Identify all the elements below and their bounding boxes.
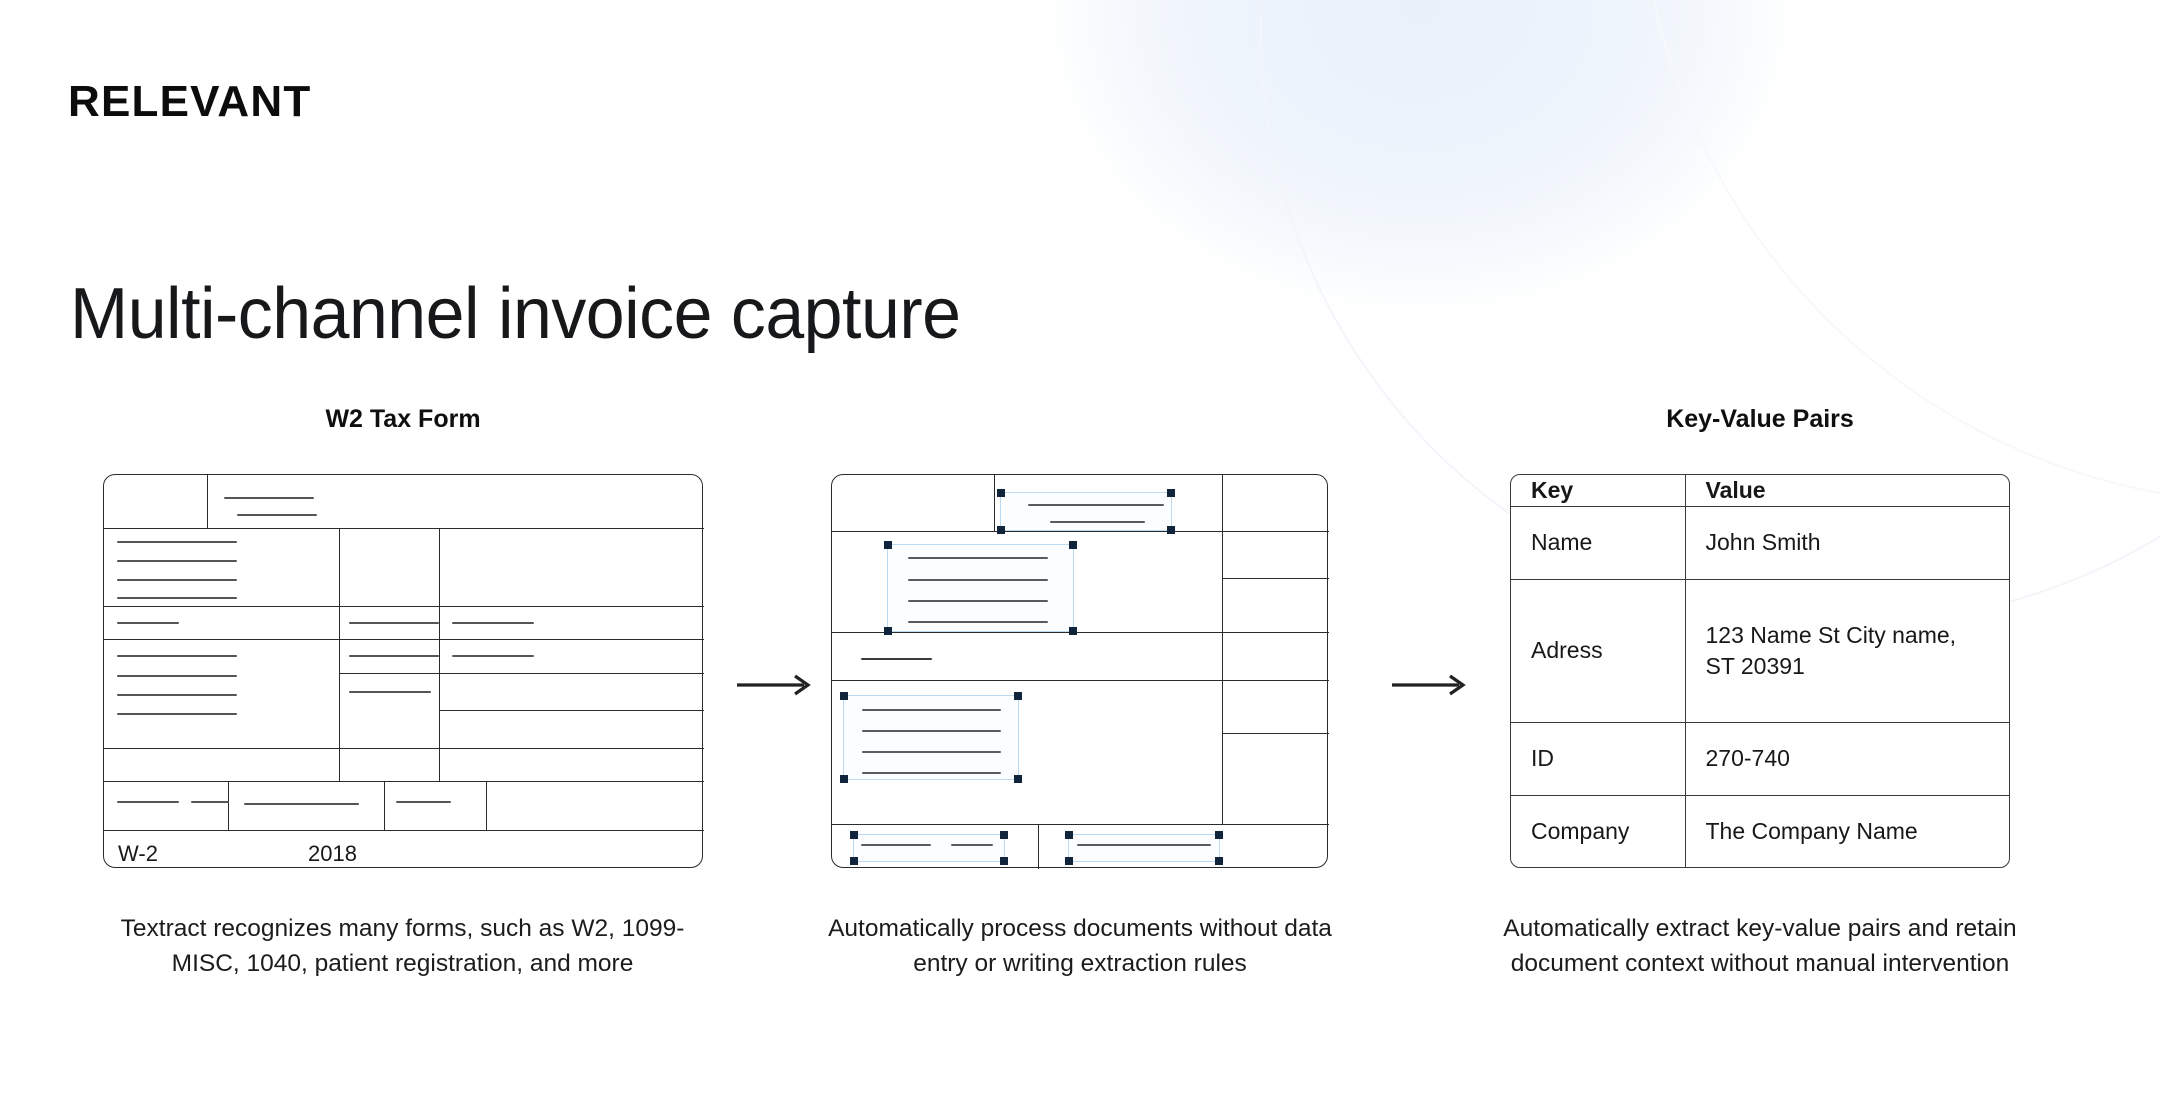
cell-value: 270-740 bbox=[1685, 723, 2009, 796]
form-text-line bbox=[224, 497, 314, 499]
form-text-line bbox=[117, 655, 237, 657]
form-text-line bbox=[117, 560, 237, 562]
form-text-line bbox=[396, 801, 451, 803]
selection-handle-bottom-right[interactable] bbox=[1167, 526, 1175, 534]
selection-handle-top-right[interactable] bbox=[1167, 489, 1175, 497]
selection-handle-top-left[interactable] bbox=[1065, 831, 1073, 839]
brand-logo: RELEVANT bbox=[68, 80, 311, 124]
cell-key: Company bbox=[1511, 795, 1685, 867]
form-rule bbox=[339, 528, 340, 781]
form-rule bbox=[1222, 578, 1329, 579]
form-text-line bbox=[861, 658, 932, 660]
selection-handle-top-right[interactable] bbox=[1014, 692, 1022, 700]
form-rule bbox=[439, 528, 440, 781]
cell-value: The Company Name bbox=[1685, 795, 2009, 867]
selection-handle-bottom-left[interactable] bbox=[1065, 857, 1073, 865]
form-rule bbox=[1038, 824, 1039, 869]
selection-handle-bottom-right[interactable] bbox=[1215, 857, 1223, 865]
form-text-line bbox=[237, 514, 317, 516]
form-text-line bbox=[117, 675, 237, 677]
form-rule bbox=[832, 632, 1329, 633]
column-header-key: Key bbox=[1511, 475, 1685, 507]
selection-handle-bottom-left[interactable] bbox=[997, 526, 1005, 534]
form-text-line bbox=[452, 622, 534, 624]
selection-handle-bottom-left[interactable] bbox=[850, 857, 858, 865]
panel-caption-key-value-pairs: Automatically extract key-value pairs an… bbox=[1470, 912, 2050, 982]
form-text-line bbox=[117, 622, 179, 624]
form-text-line bbox=[191, 801, 229, 803]
arrow-right-icon bbox=[735, 672, 815, 703]
processed-document-sheet bbox=[831, 474, 1328, 868]
form-rule bbox=[104, 781, 704, 782]
extraction-selection-box[interactable] bbox=[853, 834, 1005, 862]
form-rule bbox=[994, 475, 995, 531]
panel-caption-w2-tax-form: Textract recognizes many forms, such as … bbox=[95, 912, 710, 982]
form-text-line bbox=[452, 655, 534, 657]
selection-handle-bottom-right[interactable] bbox=[1069, 627, 1077, 635]
table-row: Name John Smith bbox=[1511, 507, 2009, 580]
selection-handle-top-left[interactable] bbox=[850, 831, 858, 839]
selection-handle-bottom-left[interactable] bbox=[840, 775, 848, 783]
form-rule bbox=[439, 710, 704, 711]
extraction-selection-box[interactable] bbox=[887, 544, 1074, 632]
form-text-line bbox=[117, 801, 179, 803]
extraction-selection-box[interactable] bbox=[843, 695, 1019, 780]
form-rule bbox=[1222, 475, 1223, 824]
extraction-selection-box[interactable] bbox=[1068, 834, 1220, 862]
form-rule bbox=[104, 606, 704, 607]
form-rule bbox=[339, 673, 704, 674]
selection-handle-top-right[interactable] bbox=[1000, 831, 1008, 839]
selection-handle-top-left[interactable] bbox=[997, 489, 1005, 497]
arrow-right-icon bbox=[1390, 672, 1470, 703]
w2-form-code-label: W-2 bbox=[118, 841, 158, 867]
extraction-selection-box[interactable] bbox=[1000, 492, 1172, 531]
selection-handle-top-right[interactable] bbox=[1215, 831, 1223, 839]
form-text-line bbox=[117, 579, 237, 581]
panel-title-key-value-pairs: Key-Value Pairs bbox=[1510, 405, 2010, 434]
table-row: ID 270-740 bbox=[1511, 723, 2009, 796]
form-text-line bbox=[117, 713, 237, 715]
form-rule bbox=[228, 781, 229, 830]
form-rule bbox=[104, 639, 704, 640]
cell-value: 123 Name St City name, ST 20391 bbox=[1685, 579, 2009, 722]
table-row: Company The Company Name bbox=[1511, 795, 2009, 867]
selection-handle-top-left[interactable] bbox=[840, 692, 848, 700]
cell-value: John Smith bbox=[1685, 507, 2009, 580]
form-text-line bbox=[117, 541, 237, 543]
form-text-line bbox=[349, 622, 439, 624]
panel-title-w2-tax-form: W2 Tax Form bbox=[103, 405, 703, 434]
form-text-line bbox=[117, 597, 237, 599]
page-title: Multi-channel invoice capture bbox=[70, 276, 960, 354]
w2-form-sheet: W-2 2018 bbox=[103, 474, 703, 868]
panel-caption-processed-document: Automatically process documents without … bbox=[800, 912, 1360, 982]
form-rule bbox=[1222, 733, 1329, 734]
form-rule bbox=[104, 528, 704, 529]
cell-key: Adress bbox=[1511, 579, 1685, 722]
w2-form-year-label: 2018 bbox=[308, 841, 357, 867]
background-blob bbox=[1040, 0, 1800, 320]
cell-key: ID bbox=[1511, 723, 1685, 796]
form-text-line bbox=[244, 803, 359, 805]
form-text-line bbox=[117, 694, 237, 696]
form-rule bbox=[486, 781, 487, 830]
selection-handle-bottom-right[interactable] bbox=[1014, 775, 1022, 783]
column-header-value: Value bbox=[1685, 475, 2009, 507]
form-rule bbox=[207, 475, 208, 528]
table-row: Adress 123 Name St City name, ST 20391 bbox=[1511, 579, 2009, 722]
selection-handle-top-left[interactable] bbox=[884, 541, 892, 549]
form-text-line bbox=[349, 655, 439, 657]
form-rule bbox=[832, 824, 1329, 825]
selection-handle-bottom-right[interactable] bbox=[1000, 857, 1008, 865]
form-rule bbox=[832, 680, 1329, 681]
table-header-row: Key Value bbox=[1511, 475, 2009, 507]
key-value-table: Key Value Name John Smith Adress 123 Nam… bbox=[1510, 474, 2010, 868]
cell-key: Name bbox=[1511, 507, 1685, 580]
form-rule bbox=[832, 531, 1329, 532]
selection-handle-bottom-left[interactable] bbox=[884, 627, 892, 635]
form-text-line bbox=[349, 691, 431, 693]
form-rule bbox=[104, 748, 704, 749]
form-rule bbox=[384, 781, 385, 830]
form-rule bbox=[104, 830, 704, 831]
selection-handle-top-right[interactable] bbox=[1069, 541, 1077, 549]
